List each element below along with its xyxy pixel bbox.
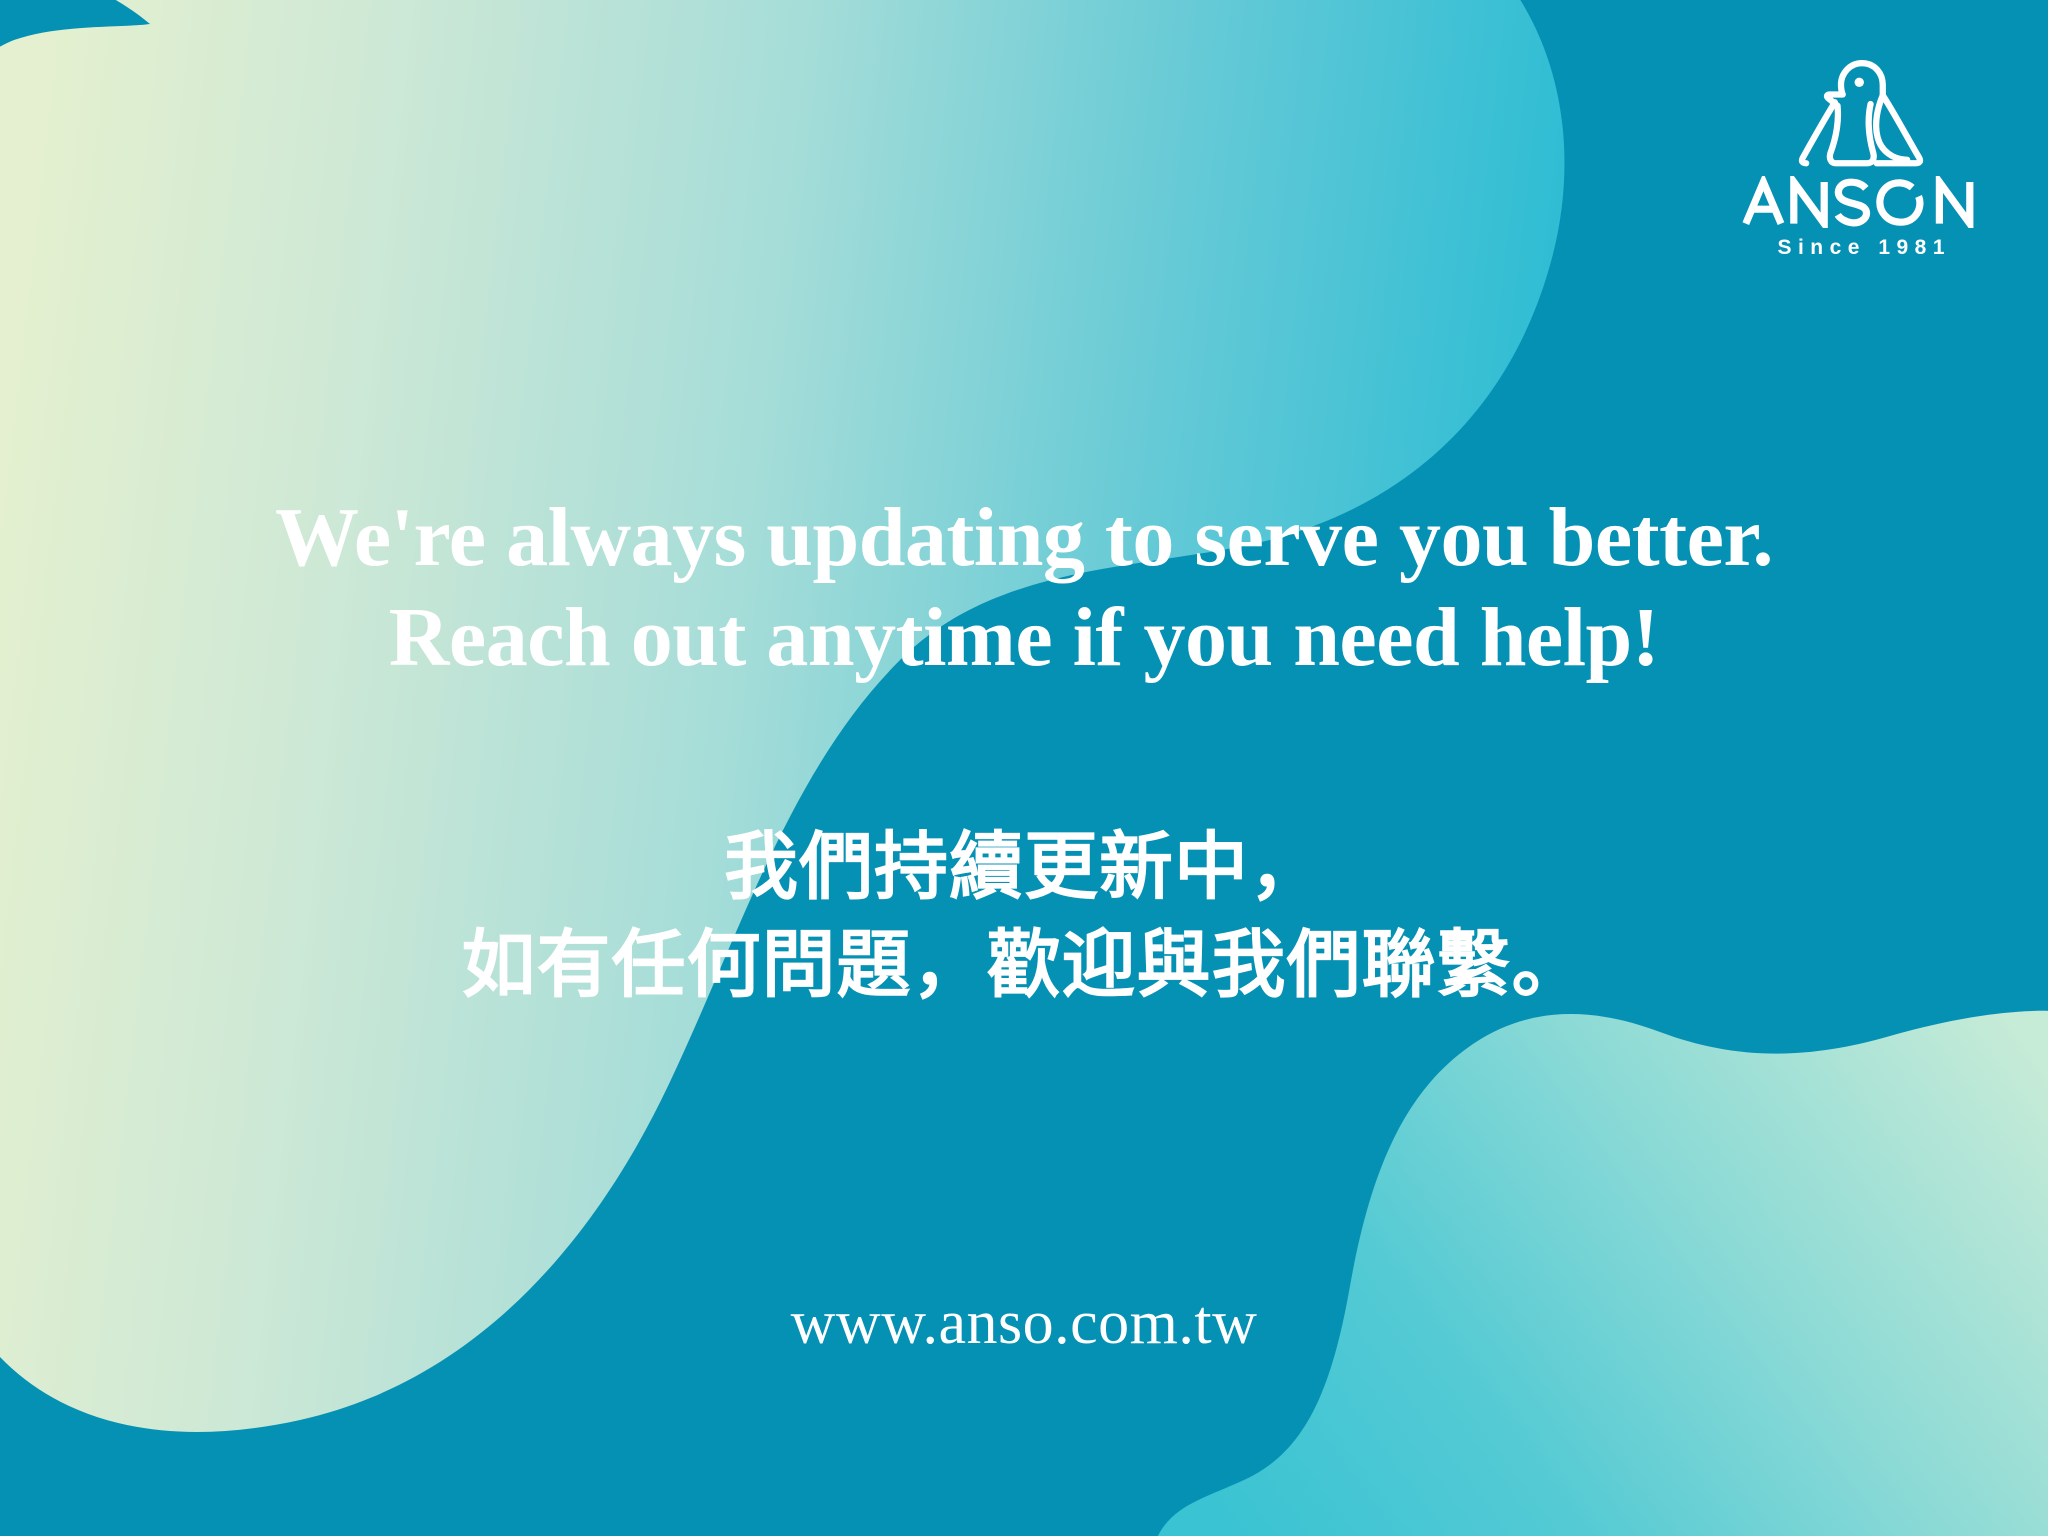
headline-line-1: We're always updating to serve you bette… <box>0 488 2048 588</box>
slide-canvas: Since 1981 We're always updating to serv… <box>0 0 2048 1536</box>
subheadline-line-1: 我們持續更新中， <box>0 818 2048 916</box>
subheadline-block-chinese: 我們持續更新中， 如有任何問題，歡迎與我們聯繫。 <box>0 818 2048 1013</box>
website-url[interactable]: www.anso.com.tw <box>0 1292 2048 1354</box>
slide-content: We're always updating to serve you bette… <box>0 0 2048 1536</box>
headline-line-2: Reach out anytime if you need help! <box>0 588 2048 688</box>
headline-block: We're always updating to serve you bette… <box>0 488 2048 688</box>
subheadline-line-2: 如有任何問題，歡迎與我們聯繫。 <box>0 916 2048 1014</box>
